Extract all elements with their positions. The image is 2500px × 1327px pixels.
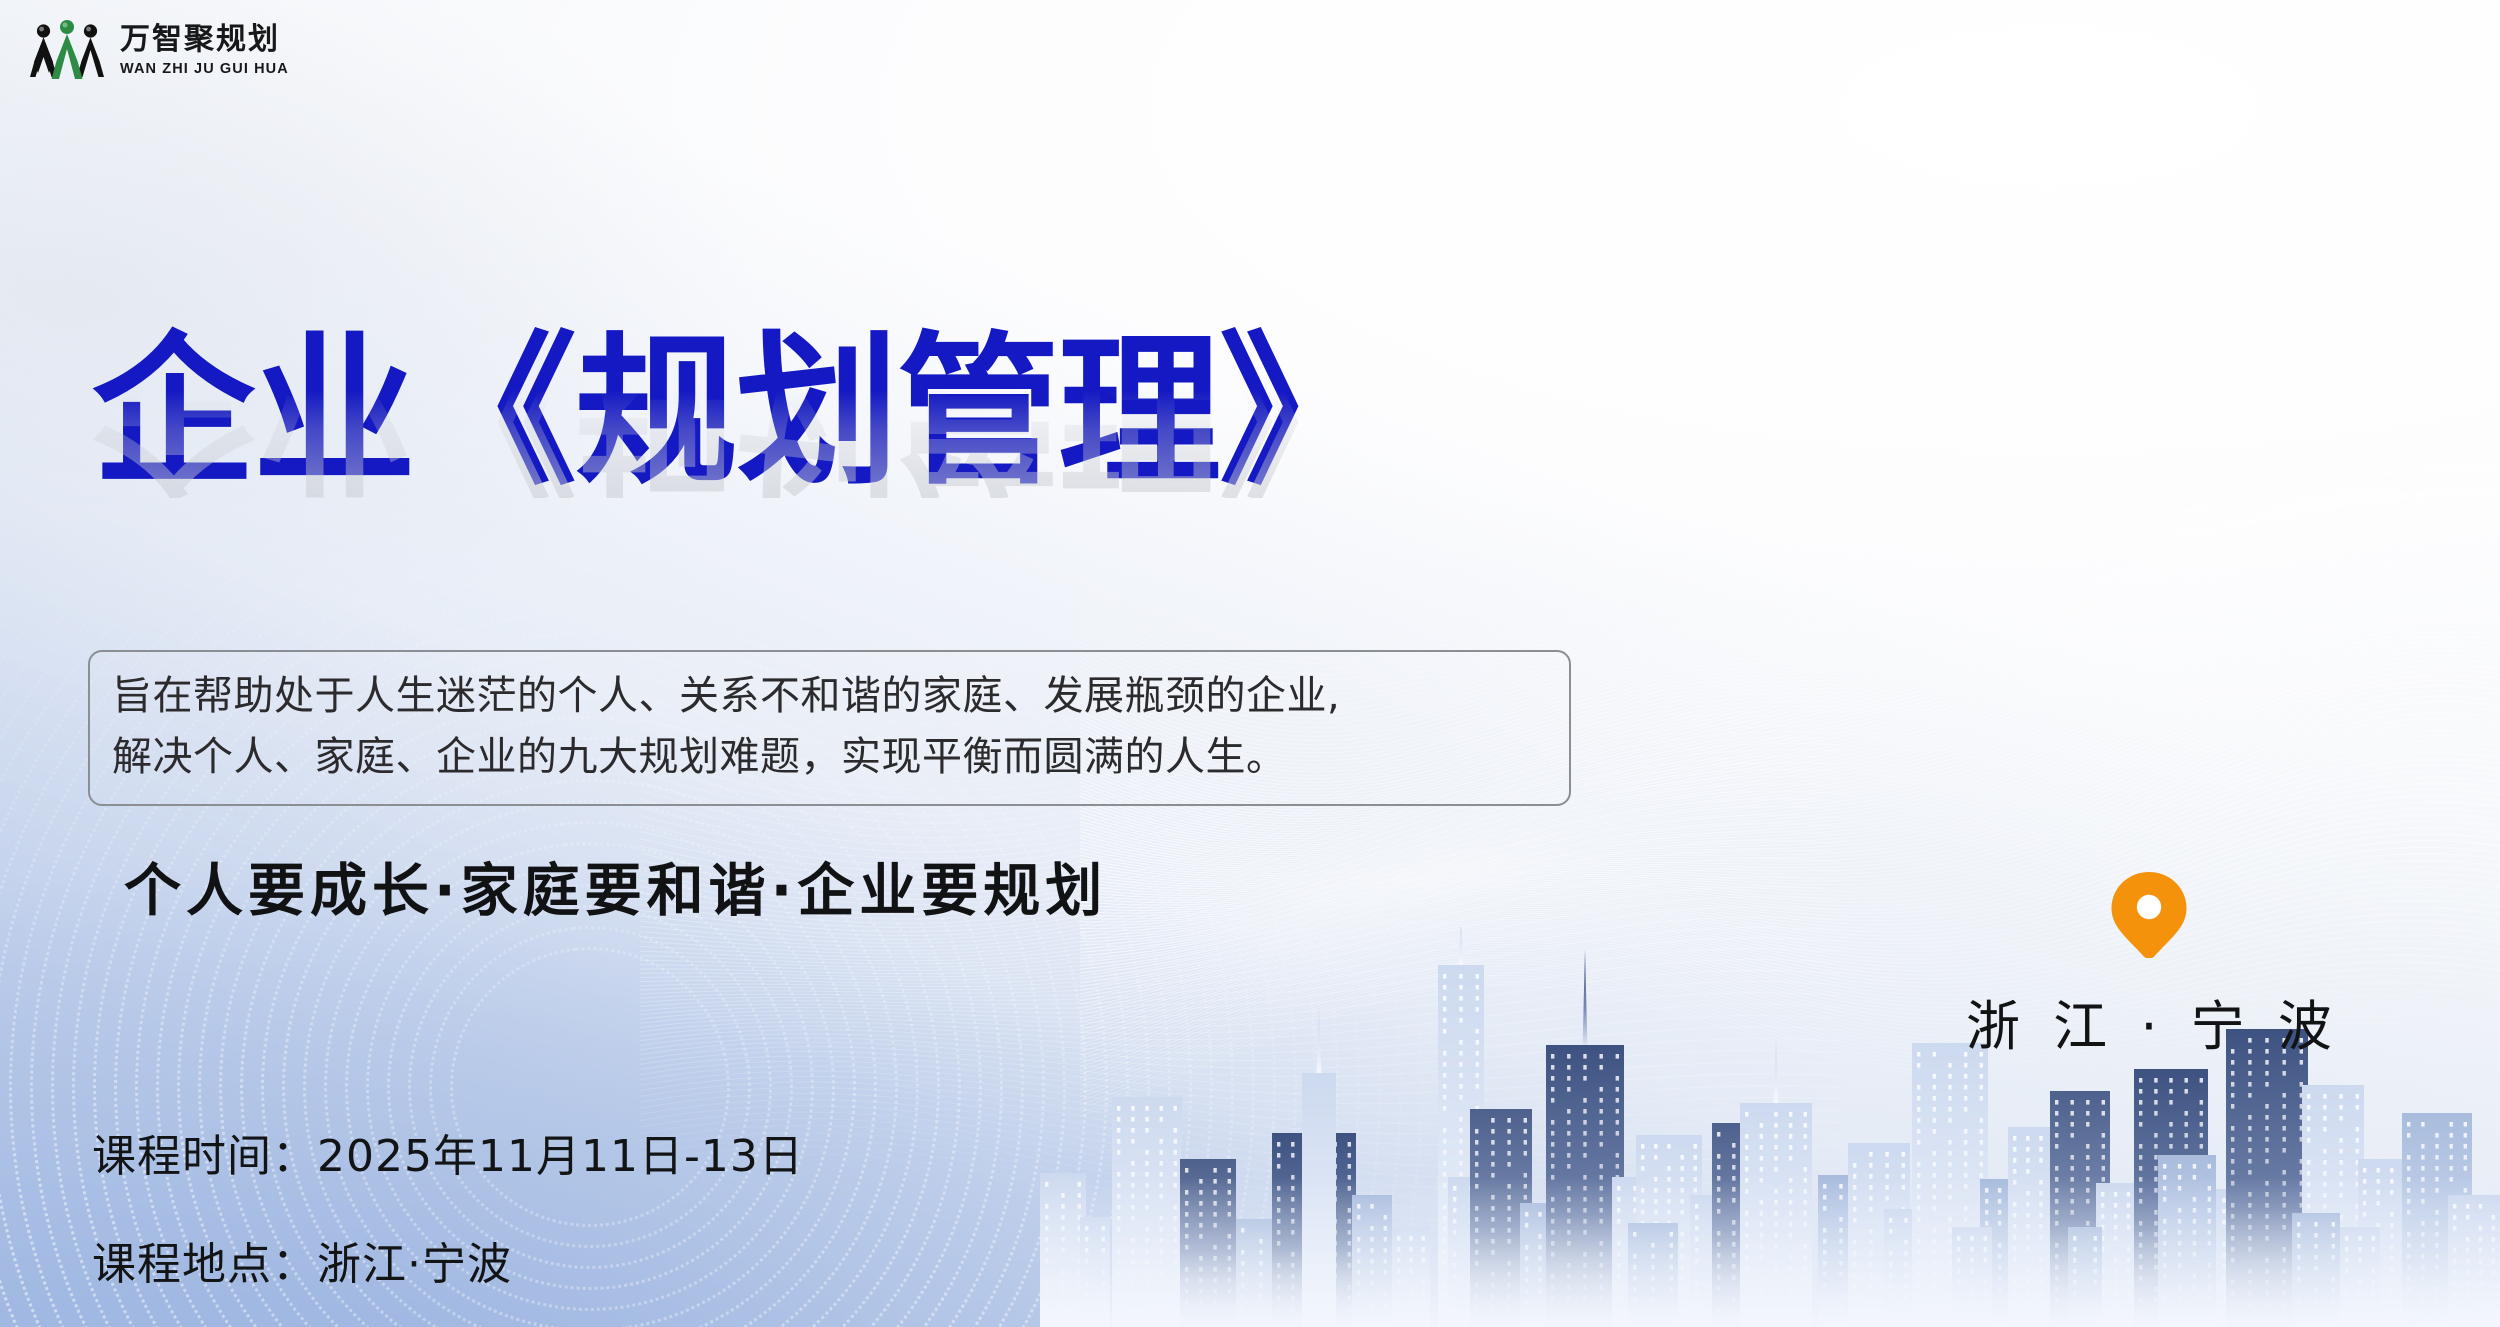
description-line-1: 旨在帮助处于人生迷茫的个人、关系不和谐的家庭、发展瓶颈的企业, (112, 666, 1549, 727)
location-badge: 浙 江 · 宁 波 (1958, 872, 2340, 1061)
poster-canvas: 万智聚规划 WAN ZHI JU GUI HUA 企业《规划管理》 企业《规划管… (0, 0, 2500, 1327)
brand-logo[interactable]: 万智聚规划 WAN ZHI JU GUI HUA (28, 16, 289, 86)
brand-name-cn: 万智聚规划 (120, 25, 289, 55)
course-place: 课程地点：浙江·宁波 (92, 1228, 804, 1292)
tagline: 个人要成长·家庭要和谐·企业要规划 (124, 845, 1107, 927)
course-time: 课程时间：2025年11月11日-13日 (92, 1120, 804, 1184)
map-pin-icon (2111, 872, 2187, 958)
location-label: 浙 江 · 宁 波 (1958, 982, 2340, 1061)
page-title-reflection: 企业《规划管理》 (92, 380, 1380, 498)
description-box: 旨在帮助处于人生迷茫的个人、关系不和谐的家庭、发展瓶颈的企业, 解决个人、家庭、… (88, 650, 1571, 806)
description-line-2: 解决个人、家庭、企业的九大规划难题，实现平衡而圆满的人生。 (112, 727, 1549, 788)
course-info: 课程时间：2025年11月11日-13日 课程地点：浙江·宁波 (92, 1120, 804, 1292)
three-people-logo-icon (28, 16, 106, 86)
brand-name-en: WAN ZHI JU GUI HUA (120, 62, 289, 77)
headline-block: 企业《规划管理》 企业《规划管理》 (92, 330, 1380, 616)
